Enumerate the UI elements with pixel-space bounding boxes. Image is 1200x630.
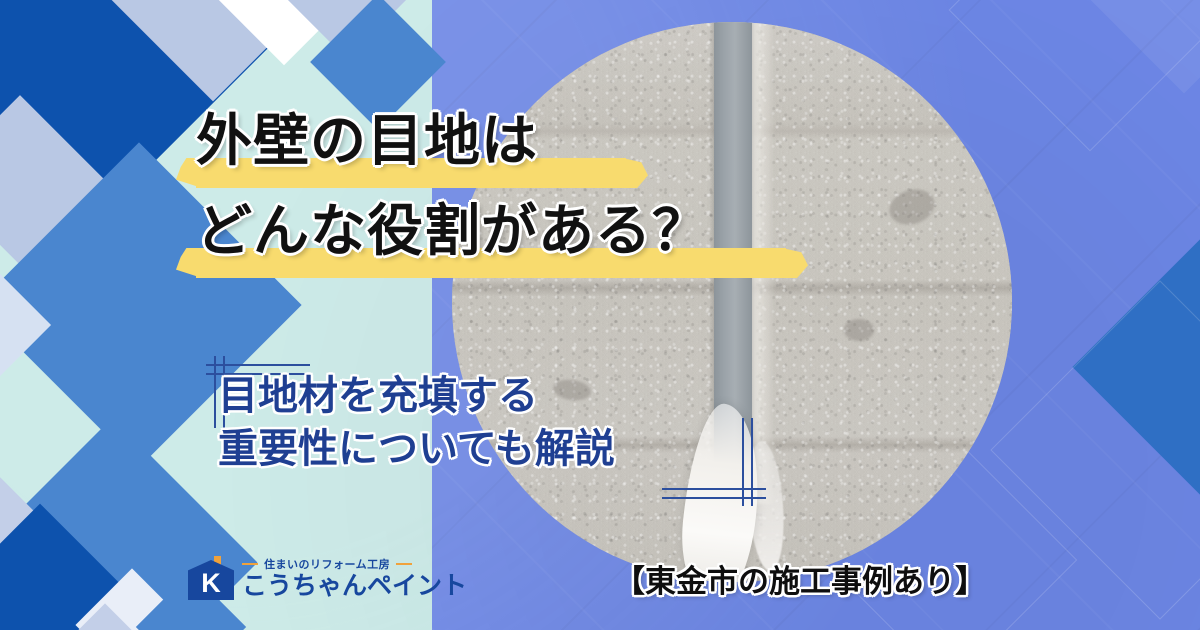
subtitle-text: 目地材を充填する 重要性についても解説 — [218, 370, 615, 476]
title-line-1: 外壁の目地は — [196, 104, 836, 178]
concrete-chip-2 — [844, 319, 874, 341]
company-logo[interactable]: K 住まいのリフォーム工房 こうちゃんペイント — [188, 556, 467, 600]
dash-right-icon — [396, 563, 412, 565]
subtitle-line-1: 目地材を充填する — [218, 370, 615, 423]
logo-company-name: こうちゃんペイント — [242, 573, 467, 599]
logo-letter-k: K — [188, 560, 234, 600]
main-title: 外壁の目地は どんな役割がある？ — [196, 104, 836, 284]
title-line-2-row: どんな役割がある？ — [196, 194, 836, 284]
dash-left-icon — [242, 563, 258, 565]
logo-text-group: 住まいのリフォーム工房 こうちゃんペイント — [242, 556, 467, 599]
deco-line-v1 — [742, 418, 744, 506]
title-line-2: どんな役割がある？ — [196, 194, 836, 268]
logo-tagline: 住まいのリフォーム工房 — [264, 556, 390, 572]
subtitle-corner-decoration-bottomright — [662, 418, 772, 506]
logo-house-k-icon: K — [188, 556, 234, 600]
title-line-1-row: 外壁の目地は — [196, 104, 836, 194]
deco-line-v1 — [214, 356, 216, 428]
bottom-caption: 【東金市の施工事例あり】 — [614, 556, 986, 601]
deco-line-v2 — [751, 418, 753, 506]
subtitle-block: 目地材を充填する 重要性についても解説 — [200, 356, 720, 506]
deco-line-h1 — [206, 364, 310, 366]
subtitle-line-2: 重要性についても解説 — [218, 423, 615, 476]
logo-tagline-row: 住まいのリフォーム工房 — [242, 556, 467, 572]
banner-canvas: 外壁の目地は どんな役割がある？ 目地材を充填する 重要性についても解説 — [0, 0, 1200, 630]
